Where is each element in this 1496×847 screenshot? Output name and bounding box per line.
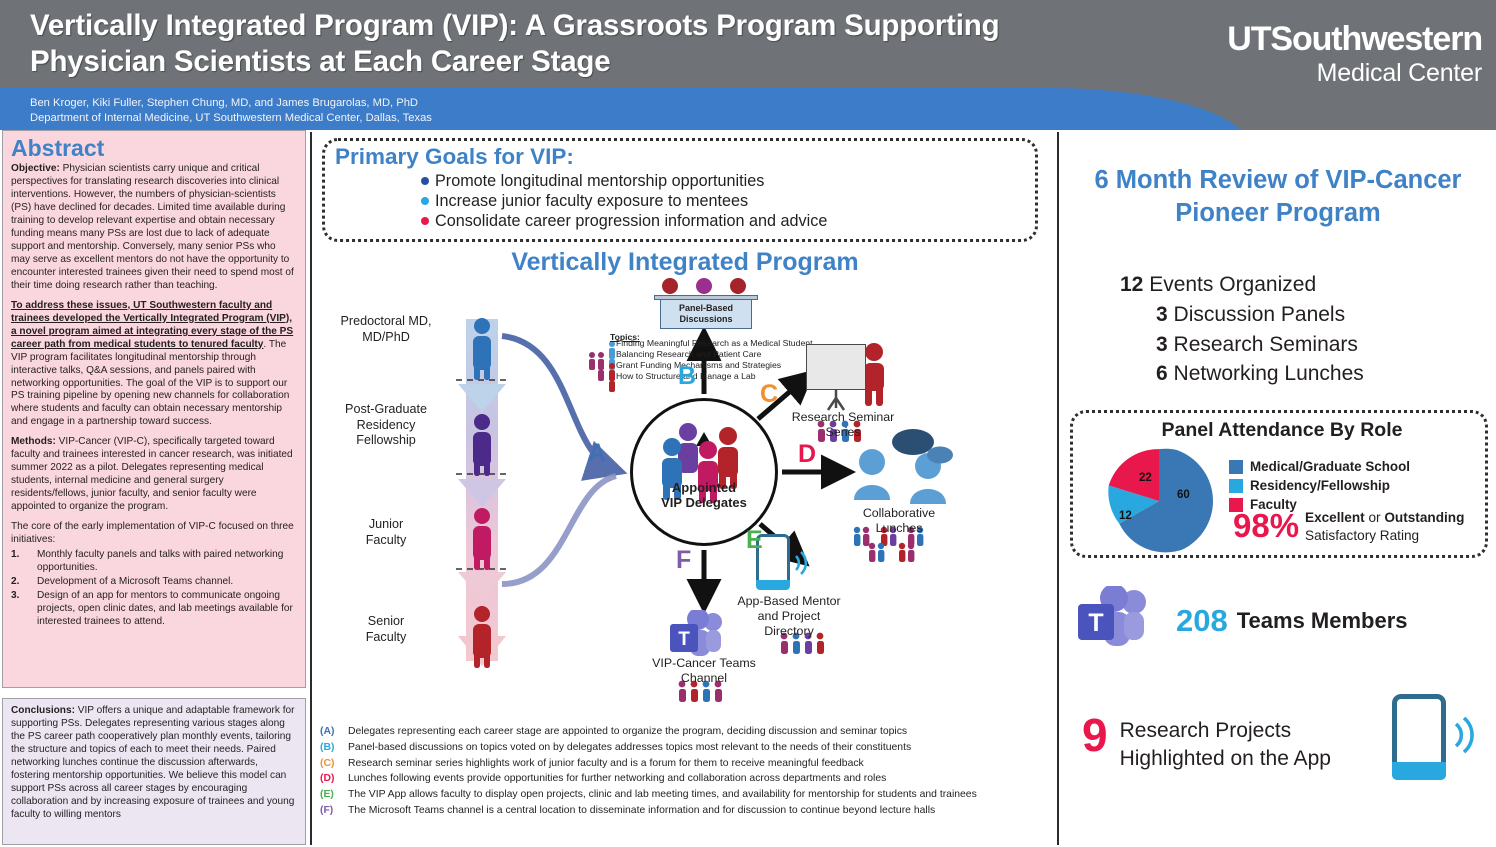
arrow-letter-a: A xyxy=(588,439,606,468)
arrow-letter-c: C xyxy=(760,380,778,409)
microsoft-teams-icon: T xyxy=(1076,586,1158,656)
legend-note-text: Research seminar series highlights work … xyxy=(348,756,1050,772)
page-title: Vertically Integrated Program (VIP): A G… xyxy=(30,8,1110,80)
author-names: Ben Kroger, Kiki Fuller, Stephen Chung, … xyxy=(30,96,930,111)
goal-item: Consolidate career progression informati… xyxy=(421,211,1025,231)
panel-attendance-chart-box: Panel Attendance By Role 60 12 22 Medica… xyxy=(1070,410,1488,558)
list-item-text: Design of an app for mentors to communic… xyxy=(37,590,297,629)
objective-text: Physician scientists carry unique and cr… xyxy=(11,163,294,291)
rating-excellent: Excellent xyxy=(1305,510,1365,525)
abstract-objective: Objective: Physician scientists carry un… xyxy=(11,163,297,293)
author-block: Ben Kroger, Kiki Fuller, Stephen Chung, … xyxy=(30,96,930,126)
stat-number: 3 xyxy=(1156,303,1168,326)
legend-note-key: (B) xyxy=(320,740,348,756)
legend-note-text: The VIP App allows faculty to display op… xyxy=(348,787,1050,803)
teams-member-label: Teams Members xyxy=(1237,608,1408,634)
stat-networking-lunches: 6 Networking Lunches xyxy=(1156,359,1364,389)
rating-outstanding: Outstanding xyxy=(1384,510,1464,525)
legend-swatch xyxy=(1229,479,1243,493)
research-projects-row: 9 Research Projects Highlighted on the A… xyxy=(1082,714,1331,772)
microsoft-teams-icon: T xyxy=(668,610,732,662)
abstract-paragraph-2-rest: . The VIP program facilitates longitudin… xyxy=(11,339,289,428)
methods-text: VIP-Cancer (VIP-C), specifically targete… xyxy=(11,436,293,512)
legend-note-key: (C) xyxy=(320,756,348,772)
legend-note: (B)Panel-based discussions on topics vot… xyxy=(320,740,1050,756)
legend-swatch xyxy=(1229,460,1243,474)
legend-note-text: The Microsoft Teams channel is a central… xyxy=(348,803,1050,819)
list-item-text: Development of a Microsoft Teams channel… xyxy=(37,576,297,589)
methods-label: Methods: xyxy=(11,436,56,447)
legend-note-text: Delegates representing each career stage… xyxy=(348,724,1050,740)
legend-note-key: (F) xyxy=(320,803,348,819)
arrow-letter-e: E xyxy=(746,526,763,555)
logo-primary-text: UTSouthwestern xyxy=(1227,22,1482,56)
list-item-number: 2. xyxy=(11,576,37,589)
node-label-research-seminar: Research Seminar Series xyxy=(788,410,898,440)
goal-item-label: Increase junior faculty exposure to ment… xyxy=(435,191,748,211)
topic-item: Grant Funding Mechanisms and Strategies xyxy=(616,361,781,371)
pie-value-residency-fellowship: 12 xyxy=(1119,510,1132,522)
primary-goals-box: Primary Goals for VIP: Promote longitudi… xyxy=(322,138,1038,242)
goal-item-label: Promote longitudinal mentorship opportun… xyxy=(435,171,764,191)
legend-item: Medical/Graduate School xyxy=(1229,457,1410,476)
list-item: 2.Development of a Microsoft Teams chann… xyxy=(11,576,297,589)
legend-note: (D)Lunches following events provide oppo… xyxy=(320,771,1050,787)
research-projects-count: 9 xyxy=(1082,714,1108,756)
goal-item-label: Consolidate career progression informati… xyxy=(435,211,827,231)
center-circle-label: Appointed VIP Delegates xyxy=(630,481,778,511)
stage-label-junior-faculty: Junior Faculty xyxy=(326,517,446,548)
satisfaction-percentage: 98% xyxy=(1233,509,1299,542)
satisfaction-line-2: Satisfactory Rating xyxy=(1305,527,1464,545)
teams-members-row: T 208 Teams Members xyxy=(1076,586,1408,656)
list-item-number: 3. xyxy=(11,590,37,629)
legend-note-key: (D) xyxy=(320,771,348,787)
abstract-underlined-claim: To address these issues, UT Southwestern… xyxy=(11,300,293,350)
legend-note: (A)Delegates representing each career st… xyxy=(320,724,1050,740)
pie-value-faculty: 22 xyxy=(1139,472,1152,484)
abstract-panel: Abstract Objective: Physician scientists… xyxy=(2,130,306,688)
stage-label-senior-faculty: Senior Faculty xyxy=(326,614,446,645)
left-column: Abstract Objective: Physician scientists… xyxy=(0,130,308,847)
review-heading: 6 Month Review of VIP-Cancer Pioneer Pro… xyxy=(1062,164,1494,229)
list-item: 3.Design of an app for mentors to commun… xyxy=(11,590,297,629)
list-item-text: Monthly faculty panels and talks with pa… xyxy=(37,549,297,575)
stat-research-seminars: 3 Research Seminars xyxy=(1156,330,1364,360)
topic-item: Finding Meaningful Research as a Medical… xyxy=(616,339,813,349)
conclusions-panel: Conclusions: VIP offers a unique and ada… xyxy=(2,698,306,845)
initiatives-list: 1.Monthly faculty panels and talks with … xyxy=(11,549,297,629)
presentation-screen-icon xyxy=(806,344,866,390)
arrow-letter-d: D xyxy=(798,440,816,469)
bullet-dot-icon xyxy=(421,217,429,225)
stat-discussion-panels: 3 Discussion Panels xyxy=(1156,300,1364,330)
teams-member-count: 208 xyxy=(1176,603,1228,639)
goal-item: Increase junior faculty exposure to ment… xyxy=(421,191,1025,211)
stat-label: Discussion Panels xyxy=(1168,303,1345,326)
phone-base-icon xyxy=(1392,762,1446,780)
column-divider-left xyxy=(310,132,312,845)
node-label-collaborative-lunches: Collaborative Lunches xyxy=(844,506,954,536)
ut-southwestern-logo: UTSouthwestern Medical Center xyxy=(1227,22,1482,89)
stat-number: 3 xyxy=(1156,333,1168,356)
abstract-methods: Methods: VIP-Cancer (VIP-C), specificall… xyxy=(11,436,297,514)
stage-label-postgraduate: Post-Graduate Residency Fellowship xyxy=(326,402,446,449)
list-item: 1.Monthly faculty panels and talks with … xyxy=(11,549,297,575)
legend-label: Residency/Fellowship xyxy=(1250,476,1390,495)
column-divider-right xyxy=(1057,132,1059,845)
node-label-app-directory: App-Based Mentor and Project Directory xyxy=(724,594,854,639)
panel-based-discussions-label: Panel-Based Discussions xyxy=(660,299,752,329)
legend-item: Residency/Fellowship xyxy=(1229,476,1410,495)
middle-column: Primary Goals for VIP: Promote longitudi… xyxy=(316,134,1054,845)
legend-note: (C)Research seminar series highlights wo… xyxy=(320,756,1050,772)
bullet-dot-icon xyxy=(421,177,429,185)
legend-note-text: Panel-based discussions on topics voted … xyxy=(348,740,1050,756)
poster-header: Vertically Integrated Program (VIP): A G… xyxy=(0,0,1496,130)
stat-label: Events Organized xyxy=(1143,273,1316,296)
legend-note: (F)The Microsoft Teams channel is a cent… xyxy=(320,803,1050,819)
chart-title: Panel Attendance By Role xyxy=(1073,419,1491,442)
pie-value-medical-graduate: 60 xyxy=(1177,489,1190,501)
legend-note-key: (E) xyxy=(320,787,348,803)
conclusions-text: VIP offers a unique and adaptable framew… xyxy=(11,705,295,820)
abstract-heading: Abstract xyxy=(11,137,297,160)
stat-events: 12 Events Organized xyxy=(1120,270,1364,300)
legend-note-key: (A) xyxy=(320,724,348,740)
right-column: 6 Month Review of VIP-Cancer Pioneer Pro… xyxy=(1062,134,1494,845)
logo-secondary-text: Medical Center xyxy=(1227,58,1482,89)
satisfaction-line-1: Excellent or Outstanding xyxy=(1305,509,1464,527)
stat-number: 6 xyxy=(1156,362,1168,385)
arrow-letter-f: F xyxy=(676,546,691,575)
vip-flow-diagram: Panel-Based Discussions Topics: Finding … xyxy=(316,284,1054,719)
objective-label: Objective: xyxy=(11,163,60,174)
satisfaction-description: Excellent or Outstanding Satisfactory Ra… xyxy=(1305,509,1464,545)
legend-label: Medical/Graduate School xyxy=(1250,457,1410,476)
center-circle xyxy=(630,398,778,546)
arrow-letter-b: B xyxy=(678,362,696,391)
topic-item: Balancing Research and Patient Care xyxy=(616,350,761,360)
diagram-legend-notes: (A)Delegates representing each career st… xyxy=(320,724,1050,819)
node-label-teams-channel: VIP-Cancer Teams Channel xyxy=(634,656,774,686)
stat-label: Research Seminars xyxy=(1168,333,1358,356)
primary-goals-heading: Primary Goals for VIP: xyxy=(335,145,1025,170)
chart-legend: Medical/Graduate School Residency/Fellow… xyxy=(1229,457,1410,514)
legend-note-text: Lunches following events provide opportu… xyxy=(348,771,1050,787)
poster-root: Vertically Integrated Program (VIP): A G… xyxy=(0,0,1496,847)
rating-conjunction: or xyxy=(1365,510,1385,525)
svg-text:T: T xyxy=(678,629,690,650)
stage-label-predoctoral: Predoctoral MD, MD/PhD xyxy=(326,314,446,345)
list-item-number: 1. xyxy=(11,549,37,575)
pie-chart xyxy=(1105,447,1213,555)
goal-item: Promote longitudinal mentorship opportun… xyxy=(421,171,1025,191)
abstract-paragraph-2: To address these issues, UT Southwestern… xyxy=(11,300,297,430)
stat-number: 12 xyxy=(1120,273,1143,296)
svg-text:T: T xyxy=(1088,609,1103,637)
legend-note: (E)The VIP App allows faculty to display… xyxy=(320,787,1050,803)
wifi-signal-icon xyxy=(1450,712,1486,764)
research-projects-label: Research Projects Highlighted on the App xyxy=(1120,717,1331,772)
bullet-dot-icon xyxy=(421,197,429,205)
review-stats-list: 12 Events Organized 3 Discussion Panels … xyxy=(1120,270,1364,389)
author-affiliation: Department of Internal Medicine, UT Sout… xyxy=(30,111,930,126)
phone-base-icon xyxy=(756,580,790,590)
stat-label: Networking Lunches xyxy=(1168,362,1364,385)
initiatives-intro: The core of the early implementation of … xyxy=(11,521,297,547)
conclusions-paragraph: Conclusions: VIP offers a unique and ada… xyxy=(11,705,297,822)
conclusions-label: Conclusions: xyxy=(11,705,75,716)
